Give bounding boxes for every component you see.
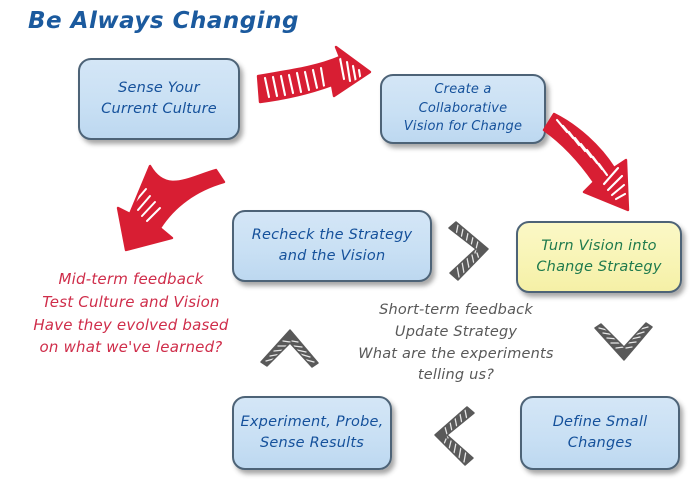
arrow-vision-to-strategy [540, 100, 656, 218]
diagram-canvas: Be Always Changing Sense Your Current Cu… [0, 0, 700, 500]
gray-chevron-up-icon [258, 318, 322, 370]
node-recheck-strategy-and-vision[interactable]: Recheck the Strategy and the Vision [232, 210, 432, 282]
arrow-define-to-experiment [423, 404, 477, 468]
red-sketch-arrow-up-left-icon [112, 156, 230, 252]
arrow-turn-to-define [592, 322, 656, 374]
arrow-sense-to-vision [252, 44, 372, 136]
note-short-term-feedback: Short-term feedback Update Strategy What… [348, 300, 564, 387]
node-label: Recheck the Strategy and the Vision [246, 225, 419, 267]
node-define-small-changes[interactable]: Define Small Changes [520, 396, 680, 470]
node-create-collaborative-vision[interactable]: Create a Collaborative Vision for Change [380, 74, 546, 144]
note-mid-term-feedback: Mid-term feedback Test Culture and Visio… [12, 268, 250, 359]
node-label: Sense Your Current Culture [95, 78, 223, 120]
gray-chevron-down-icon [592, 322, 656, 374]
node-label: Define Small Changes [547, 412, 654, 454]
arrow-recheck-to-turn [448, 219, 500, 283]
arrow-experiment-to-recheck [258, 318, 322, 370]
gray-chevron-right-icon [448, 219, 500, 283]
node-turn-vision-into-change-strategy[interactable]: Turn Vision into Change Strategy [516, 221, 682, 293]
gray-chevron-left-icon [423, 404, 477, 468]
arrow-recheck-to-sense [112, 156, 230, 252]
node-label: Experiment, Probe, Sense Results [235, 412, 390, 454]
node-label: Create a Collaborative Vision for Change [382, 81, 544, 138]
red-sketch-arrow-down-right-icon [540, 100, 656, 218]
red-sketch-arrow-right-icon [252, 44, 372, 136]
node-experiment-probe-sense-results[interactable]: Experiment, Probe, Sense Results [232, 396, 392, 470]
node-label: Turn Vision into Change Strategy [530, 236, 667, 278]
node-sense-current-culture[interactable]: Sense Your Current Culture [78, 58, 240, 140]
page-title: Be Always Changing [28, 8, 299, 34]
